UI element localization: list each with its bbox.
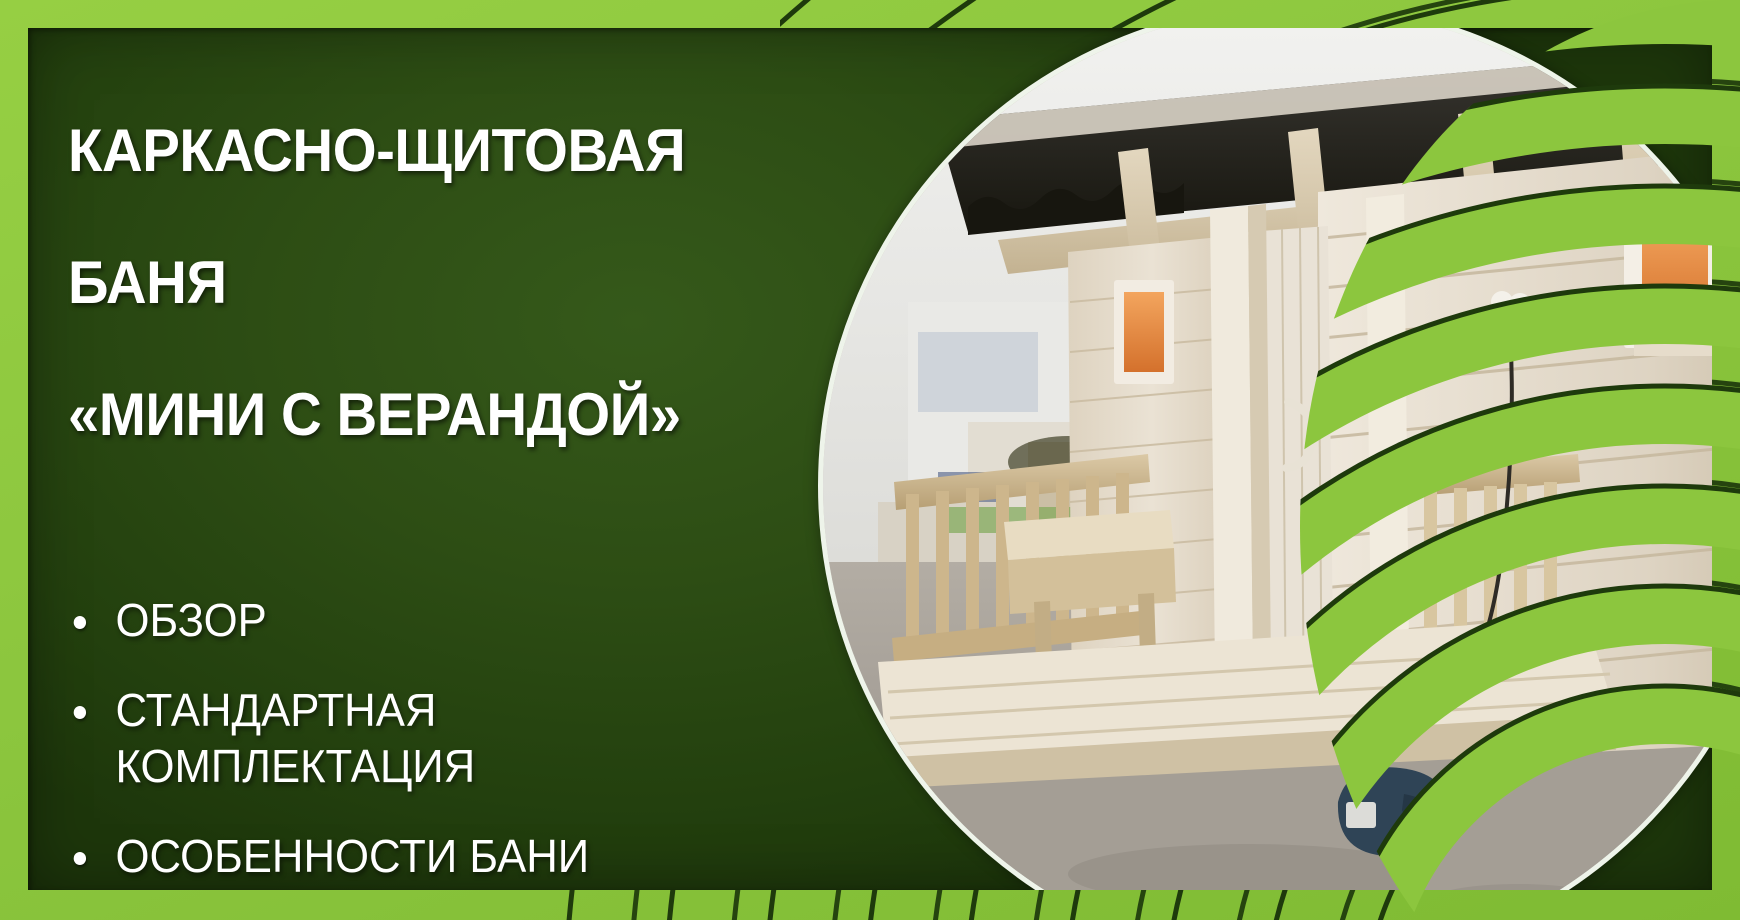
title-line-1: КАРКАСНО-ЩИТОВАЯ xyxy=(68,118,764,184)
agenda-list: ОБЗОР СТАНДАРТНАЯ КОМПЛЕКТАЦИЯ ОСОБЕННОС… xyxy=(68,592,808,884)
text-column: КАРКАСНО-ЩИТОВАЯ БАНЯ «МИНИ С ВЕРАНДОЙ» … xyxy=(68,52,808,890)
title-line-3: «МИНИ С ВЕРАНДОЙ» xyxy=(68,382,764,448)
list-item[interactable]: СТАНДАРТНАЯ КОМПЛЕКТАЦИЯ xyxy=(68,682,771,794)
promo-slide: КАРКАСНО-ЩИТОВАЯ БАНЯ «МИНИ С ВЕРАНДОЙ» … xyxy=(0,0,1740,920)
product-photo-circle xyxy=(818,28,1712,890)
list-item-label: СТАНДАРТНАЯ КОМПЛЕКТАЦИЯ xyxy=(116,684,476,792)
list-item[interactable]: ОБЗОР xyxy=(68,592,771,648)
bullet-dot-icon xyxy=(74,616,86,629)
title-line-2: БАНЯ xyxy=(68,250,764,316)
list-item-label: ОБЗОР xyxy=(116,594,267,646)
product-photo xyxy=(818,28,1712,890)
content-panel: КАРКАСНО-ЩИТОВАЯ БАНЯ «МИНИ С ВЕРАНДОЙ» … xyxy=(28,28,1712,890)
bullet-dot-icon xyxy=(74,706,86,719)
page-title: КАРКАСНО-ЩИТОВАЯ БАНЯ «МИНИ С ВЕРАНДОЙ» xyxy=(68,52,764,514)
list-item[interactable]: ОСОБЕННОСТИ БАНИ xyxy=(68,828,771,884)
list-item-label: ОСОБЕННОСТИ БАНИ xyxy=(116,830,590,882)
bullet-dot-icon xyxy=(74,852,86,865)
